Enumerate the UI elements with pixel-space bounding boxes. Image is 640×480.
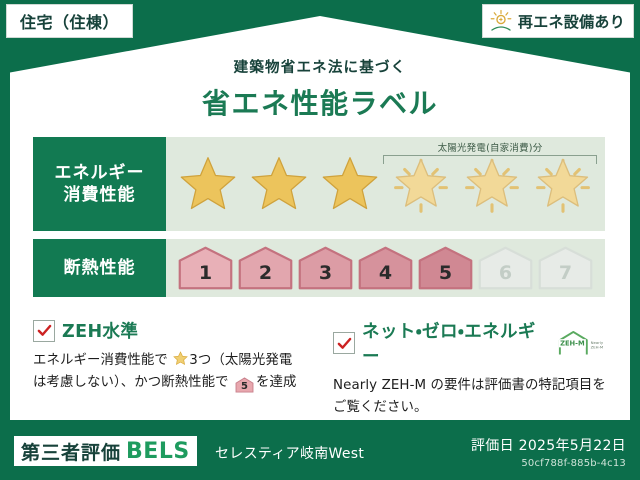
net-zero-energy-block: ネット・ゼロ・エネルギー ZEH-M Nearly ZEH-M Nearly Z… xyxy=(333,318,611,418)
insulation-performance-row: 断熱性能 1234567 xyxy=(33,239,605,297)
grade-value: 5 xyxy=(439,262,452,291)
insulation-key-line-1: 断熱性能 xyxy=(64,257,136,279)
zeh-m-logo-sub-2: ZEH-M xyxy=(591,344,604,349)
criteria-columns: ZEH水準 エネルギー消費性能で 3つ（太陽光発電 は考慮しない）、かつ断熱性能… xyxy=(33,318,611,418)
star-icon-filled xyxy=(178,155,238,213)
energy-performance-row: エネルギー 消費性能 太陽光発電(自家消費)分 xyxy=(33,137,605,231)
zeh-body-star-count: 3つ（太陽光発電 xyxy=(189,353,292,368)
net-zero-energy-title: ネット・ゼロ・エネルギー xyxy=(362,318,546,368)
insulation-grade-1: 1 xyxy=(177,245,234,291)
energy-star-rating xyxy=(166,137,605,231)
renewable-equipment-badge: 再エネ設備あり xyxy=(482,4,634,38)
insulation-grade-4: 4 xyxy=(357,245,414,291)
insulation-performance-value: 1234567 xyxy=(166,239,605,297)
evaluation-info: 評価日 2025年5月22日 50cf788f-885b-4c13 xyxy=(471,435,626,469)
inline-grade-value: 5 xyxy=(235,377,254,397)
grade-value: 3 xyxy=(319,262,332,291)
bels-jp-label: 第三者評価 xyxy=(21,438,121,465)
grade-value: 1 xyxy=(199,262,212,291)
bels-badge: 第三者評価 BELS xyxy=(14,436,197,466)
star-icon-solar xyxy=(462,155,522,213)
zeh-body-part-2: は考慮しない）、かつ断熱性能で xyxy=(33,375,229,390)
label-footer: 第三者評価 BELS セレスティア岐南West 評価日 2025年5月22日 5… xyxy=(0,426,640,480)
title-subtitle: 建築物省エネ法に基づく xyxy=(0,56,640,77)
title-block: 建築物省エネ法に基づく 省エネ性能ラベル xyxy=(0,56,640,122)
insulation-grade-3: 3 xyxy=(297,245,354,291)
zeh-body-part-1: エネルギー消費性能で xyxy=(33,353,168,368)
zeh-standard-body: エネルギー消費性能で 3つ（太陽光発電 は考慮しない）、かつ断熱性能で 5 を達… xyxy=(33,350,311,393)
evaluation-id: 50cf788f-885b-4c13 xyxy=(471,458,626,469)
star-icon-filled xyxy=(320,155,380,213)
zeh-standard-header: ZEH水準 xyxy=(33,318,311,343)
star-icon-solar xyxy=(533,155,593,213)
net-zero-energy-body: Nearly ZEH-M の要件は評価書の特記項目をご覧ください。 xyxy=(333,375,611,418)
energy-performance-label: 住宅（住棟） 再エネ設備あり 建築物省エネ法に基づく 省エネ性能ラベル エネルギ… xyxy=(0,0,640,480)
net-zero-energy-checkbox xyxy=(333,332,355,354)
house-type-label: 住宅（住棟） xyxy=(20,9,119,33)
insulation-grade-6: 6 xyxy=(477,245,534,291)
energy-performance-value: 太陽光発電(自家消費)分 xyxy=(166,137,605,231)
insulation-grade-scale: 1234567 xyxy=(166,239,605,297)
inline-star-icon xyxy=(173,351,188,366)
zeh-m-logo-text: ZEH-M xyxy=(560,339,585,347)
insulation-grade-5: 5 xyxy=(417,245,474,291)
check-icon xyxy=(37,323,52,338)
star-icon-filled xyxy=(249,155,309,213)
grade-value: 7 xyxy=(559,262,572,291)
grade-value: 2 xyxy=(259,262,272,291)
grade-value: 6 xyxy=(499,262,512,291)
energy-key-line-1: エネルギー xyxy=(55,162,145,184)
check-icon xyxy=(337,336,352,351)
zeh-body-part-3: を達成 xyxy=(256,375,296,390)
insulation-grade-2: 2 xyxy=(237,245,294,291)
building-name: セレスティア岐南West xyxy=(215,443,364,463)
zeh-standard-block: ZEH水準 エネルギー消費性能で 3つ（太陽光発電 は考慮しない）、かつ断熱性能… xyxy=(33,318,311,418)
insulation-performance-key: 断熱性能 xyxy=(33,239,166,297)
zeh-m-logo-icon: ZEH-M Nearly ZEH-M xyxy=(557,328,611,358)
energy-performance-key: エネルギー 消費性能 xyxy=(33,137,166,231)
title-main: 省エネ性能ラベル xyxy=(0,82,640,122)
zeh-standard-checkbox xyxy=(33,320,55,342)
renewable-equipment-label: 再エネ設備あり xyxy=(518,11,625,32)
evaluation-date: 評価日 2025年5月22日 xyxy=(471,435,626,455)
bels-en-label: BELS xyxy=(126,439,190,464)
insulation-grade-7: 7 xyxy=(537,245,594,291)
house-type-tag: 住宅（住棟） xyxy=(6,4,133,38)
inline-grade-badge: 5 xyxy=(235,377,254,393)
solar-sun-icon xyxy=(489,9,513,33)
zeh-standard-title: ZEH水準 xyxy=(62,318,138,343)
grade-value: 4 xyxy=(379,262,392,291)
net-zero-energy-header: ネット・ゼロ・エネルギー ZEH-M Nearly ZEH-M xyxy=(333,318,611,368)
energy-key-line-2: 消費性能 xyxy=(64,184,136,206)
star-icon-solar xyxy=(391,155,451,213)
